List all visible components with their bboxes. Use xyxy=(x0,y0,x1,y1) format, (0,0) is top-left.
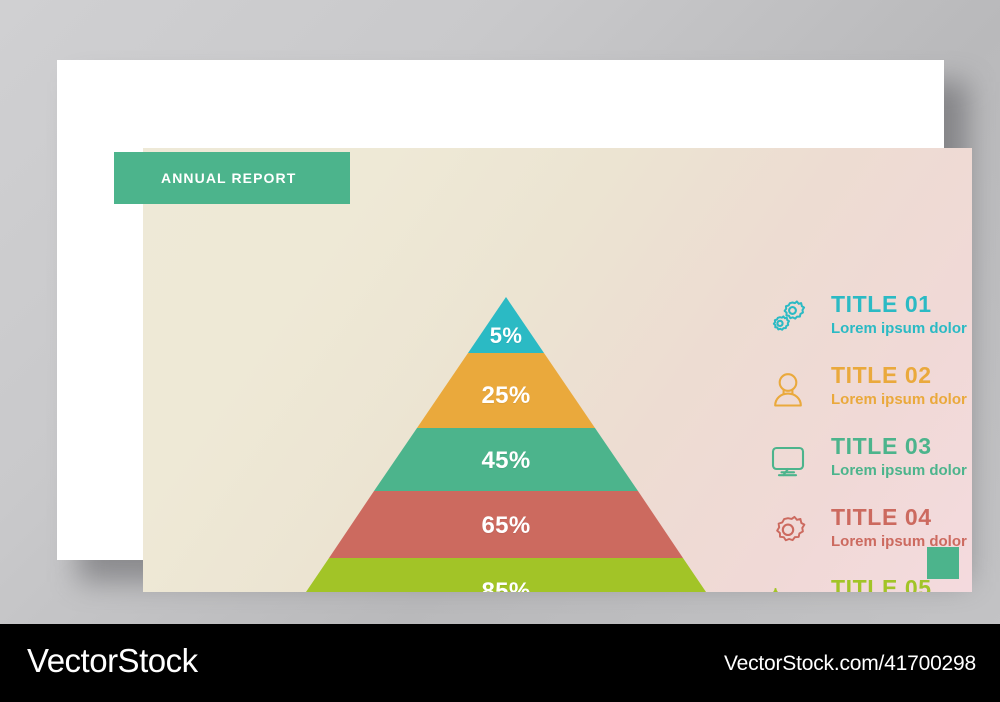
legend-item-title-01[interactable]: TITLE 01 Lorem ipsum dolor xyxy=(765,290,972,361)
pyramid-label-3: 45% xyxy=(285,447,727,475)
pyramid-label-5: 85% xyxy=(285,578,727,592)
pyramid-label-1: 5% xyxy=(285,323,727,349)
accent-square xyxy=(927,547,959,579)
pyramid-label-2: 25% xyxy=(285,382,727,410)
slide-card: 5% 25% 45% 65% 85% xyxy=(57,60,944,560)
slide-canvas: 5% 25% 45% 65% 85% xyxy=(143,148,972,592)
legend-subtitle: Lorem ipsum dolor xyxy=(831,392,967,409)
legend-subtitle: Lorem ipsum dolor xyxy=(831,321,967,338)
screenshot-root: 5% 25% 45% 65% 85% xyxy=(0,0,1000,702)
pyramid-label-4: 65% xyxy=(285,512,727,540)
legend-item-title-03[interactable]: TITLE 03 Lorem ipsum dolor xyxy=(765,432,972,503)
legend-title: TITLE 01 xyxy=(831,292,967,316)
person-icon xyxy=(765,367,811,413)
annual-report-badge: ANNUAL REPORT xyxy=(114,152,350,204)
legend-item-title-02[interactable]: TITLE 02 Lorem ipsum dolor xyxy=(765,361,972,432)
gears-icon xyxy=(765,296,811,342)
legend-subtitle: Lorem ipsum dolor xyxy=(831,463,967,480)
legend-title: TITLE 02 xyxy=(831,363,967,387)
legend-title: TITLE 04 xyxy=(831,505,967,529)
bar-chart-icon xyxy=(765,580,811,592)
legend-text-block: TITLE 02 Lorem ipsum dolor xyxy=(831,361,967,409)
watermark-bar: VectorStock VectorStock.com/41700298 xyxy=(0,624,1000,702)
legend-text-block: TITLE 04 Lorem ipsum dolor xyxy=(831,503,967,551)
gear-icon xyxy=(765,509,811,555)
annual-report-badge-label: ANNUAL REPORT xyxy=(161,170,296,186)
monitor-icon xyxy=(765,438,811,484)
legend-text-block: TITLE 03 Lorem ipsum dolor xyxy=(831,432,967,480)
vectorstock-logo: VectorStock xyxy=(27,642,198,680)
pyramid-chart: 5% 25% 45% 65% 85% xyxy=(285,297,727,592)
legend-text-block: TITLE 01 Lorem ipsum dolor xyxy=(831,290,967,338)
legend-title: TITLE 03 xyxy=(831,434,967,458)
vectorstock-url: VectorStock.com/41700298 xyxy=(724,652,976,676)
